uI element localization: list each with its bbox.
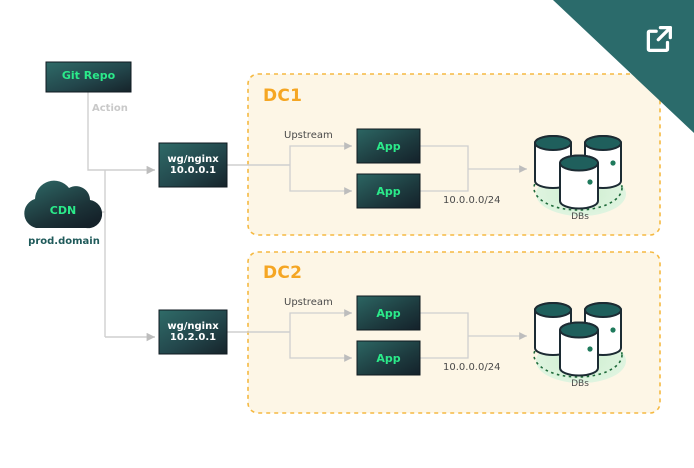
action-edge-label: Action [92,103,128,114]
dc1-upstream-label: Upstream [284,130,333,141]
diagram-canvas: Git Repo Action CDN prod.domain wg/nginx… [0,0,694,468]
dc1-dbs-label: DBs [551,212,609,222]
cdn-domain-caption: prod.domain [20,236,108,247]
gateway-dc2-line2: 10.2.0.1 [170,332,216,343]
dc2-app-1-label: App [357,296,420,330]
gateway-dc1-line2: 10.0.0.1 [170,165,216,176]
dc1-title: DC1 [263,86,302,106]
external-link-icon[interactable] [642,22,676,56]
dc2-app-2-label: App [357,341,420,375]
dc2-db-cylinder-3 [560,323,598,376]
dc2-title: DC2 [263,263,302,283]
dc1-subnet-label: 10.0.0.0/24 [443,195,500,206]
dc2-dbs-label: DBs [551,379,609,389]
dc2-upstream-label: Upstream [284,297,333,308]
gateway-dc2-text: wg/nginx 10.2.0.1 [159,310,227,354]
dc1-db-cylinder-3 [560,156,598,209]
gateway-dc1-line1: wg/nginx [167,154,218,165]
dc1-app-1-label: App [357,129,420,163]
gateway-dc1-text: wg/nginx 10.0.0.1 [159,143,227,187]
diagram-svg [0,0,694,468]
gateway-dc2-line1: wg/nginx [167,321,218,332]
dc1-app-2-label: App [357,174,420,208]
dc2-subnet-label: 10.0.0.0/24 [443,362,500,373]
git-repo-box[interactable] [46,62,131,92]
cdn-cloud[interactable] [24,181,102,228]
